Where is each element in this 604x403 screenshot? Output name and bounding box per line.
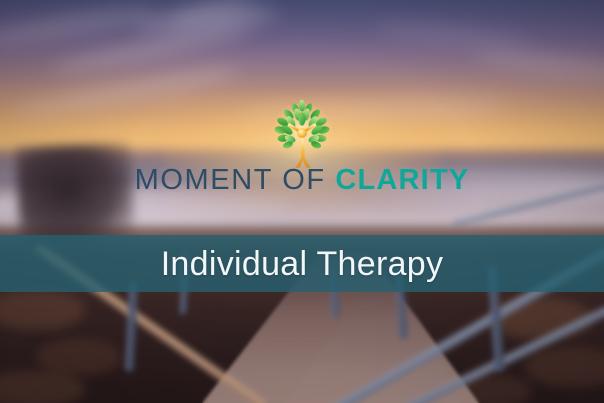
page-title: Individual Therapy (161, 247, 444, 281)
rock-texture (36, 339, 121, 375)
promo-banner: MOMENT OF CLARITY Individual Therapy (0, 0, 604, 403)
wordmark-bold: CLARITY (335, 164, 469, 196)
wordmark: MOMENT OF CLARITY (0, 166, 604, 195)
wordmark-light: MOMENT OF (135, 164, 326, 196)
background-photo (0, 0, 604, 403)
tree-of-life-icon (265, 96, 339, 170)
title-band: Individual Therapy (0, 235, 604, 292)
rock-texture (525, 347, 604, 387)
brand-logo: MOMENT OF CLARITY (0, 96, 604, 195)
